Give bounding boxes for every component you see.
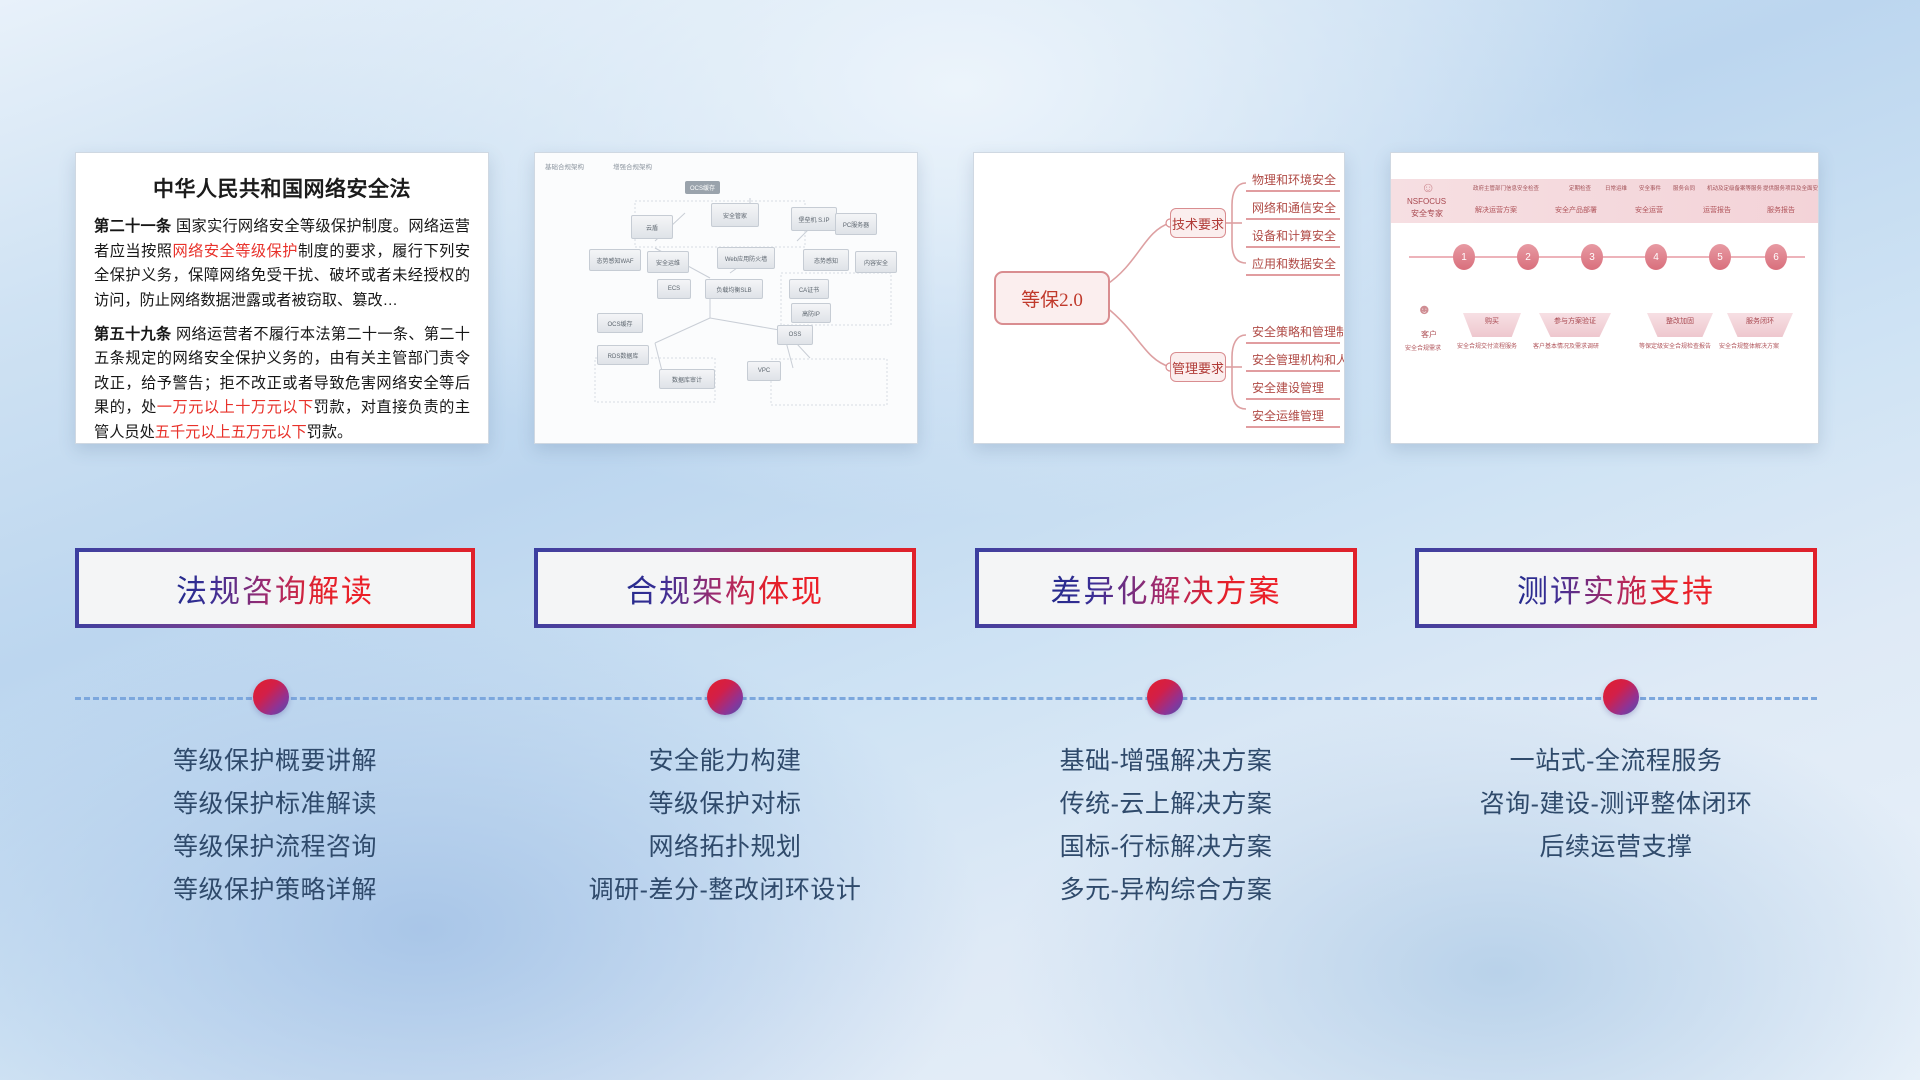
article-59-highlight-1: 一万元以上十万元以下: [157, 399, 314, 416]
arch-label-security-host: OCS缓存: [685, 181, 720, 194]
timeline-dot-2[interactable]: [707, 679, 743, 715]
detail-column-4: 一站式-全流程服务 咨询-建设-测评整体闭环 后续运营支撑: [1415, 740, 1817, 869]
mindmap-branch-technical: 技术要求: [1170, 208, 1226, 238]
card-compliance-architecture[interactable]: 基础合规架构 增强合规架构: [534, 152, 918, 444]
architecture-diagram: 基础合规架构 增强合规架构: [535, 153, 917, 443]
step-6: 6: [1765, 244, 1787, 270]
detail-item: 网络拓扑规划: [534, 826, 916, 869]
article-21-label: 第二十一条: [94, 218, 171, 235]
law-body: 中华人民共和国网络安全法 第二十一条 国家实行网络安全等级保护制度。网络运营者应…: [76, 153, 488, 443]
headline-text-2: 合规架构体现: [626, 566, 824, 611]
arch-node-situational-awareness-waf: 态势感知WAF: [589, 249, 641, 271]
bottom-item-0-sub: 安全合规交付流程服务: [1457, 341, 1517, 350]
detail-item: 等级保护流程咨询: [75, 826, 475, 869]
step-1: 1: [1453, 244, 1475, 270]
bottom-item-3-sub: 安全合规整体解决方案: [1719, 341, 1779, 350]
arch-node-pc-server: PC服务器: [835, 213, 877, 235]
card-service-flow[interactable]: ☺ NSFOCUS 安全专家 政府主管部门信息安全检查 定期检查 日常运维 安全…: [1390, 152, 1819, 444]
arch-node-ocs: OCS缓存: [597, 313, 643, 333]
detail-item: 等级保护概要讲解: [75, 740, 475, 783]
arch-node-oss: OSS: [777, 325, 813, 345]
step-5: 5: [1709, 244, 1731, 270]
headline-text-4: 测评实施支持: [1517, 566, 1715, 611]
headline-box-3[interactable]: 差异化解决方案: [975, 548, 1357, 628]
bottom-left-sub: 安全合规需求: [1405, 343, 1441, 352]
mindmap-branch-management: 管理要求: [1170, 352, 1226, 382]
detail-item: 调研-差分-整改闭环设计: [534, 869, 916, 912]
detail-item: 等级保护对标: [534, 783, 916, 826]
headline-text-3: 差异化解决方案: [1051, 566, 1282, 611]
bottom-item-1-title: 参与方案验证: [1539, 313, 1611, 337]
headline-text-1: 法规咨询解读: [176, 566, 374, 611]
arch-node-bastion: 堡垒机 S.IP: [791, 207, 837, 231]
detail-item: 等级保护策略详解: [75, 869, 475, 912]
detail-column-1: 等级保护概要讲解 等级保护标准解读 等级保护流程咨询 等级保护策略详解: [75, 740, 475, 912]
mindmap-leaf-policy-system: 安全策略和管理制度: [1252, 323, 1345, 340]
detail-item: 后续运营支撑: [1415, 826, 1817, 869]
headline-box-1[interactable]: 法规咨询解读: [75, 548, 475, 628]
article-59-highlight-2: 五千元以上五万元以下: [155, 424, 307, 441]
service-flow-rail: [1391, 153, 1818, 443]
bottom-item-2-title: 整改加固: [1647, 313, 1713, 337]
article-59-end: 罚款。: [307, 424, 353, 441]
article-21-highlight: 网络安全等级保护: [172, 243, 298, 260]
thumbnail-card-row: 中华人民共和国网络安全法 第二十一条 国家实行网络安全等级保护制度。网络运营者应…: [0, 0, 1920, 470]
arch-node-security-butler: 安全管家: [711, 203, 759, 227]
bottom-item-1-sub: 客户基本情况及需求调研: [1533, 341, 1599, 350]
arch-node-vpc: VPC: [747, 361, 781, 381]
mindmap-leaf-network-communication: 网络和通信安全: [1252, 199, 1336, 216]
detail-item: 多元-异构综合方案: [975, 869, 1357, 912]
arch-node-situational-awareness: 态势感知: [803, 249, 849, 271]
mindmap-leaf-physical-environment: 物理和环境安全: [1252, 171, 1336, 188]
bottom-item-0-title: 购买: [1463, 313, 1521, 337]
step-3: 3: [1581, 244, 1603, 270]
step-2: 2: [1517, 244, 1539, 270]
arch-node-slb: 负载均衡SLB: [705, 279, 763, 299]
arch-node-ecs: ECS: [657, 279, 691, 299]
detail-item: 传统-云上解决方案: [975, 783, 1357, 826]
mindmap: 等保2.0 技术要求 物理和环境安全 网络和通信安全 设备和计算安全 应用和数据…: [974, 153, 1344, 443]
detail-item: 等级保护标准解读: [75, 783, 475, 826]
headline-box-4[interactable]: 测评实施支持: [1415, 548, 1817, 628]
mindmap-leaf-device-computing: 设备和计算安全: [1252, 227, 1336, 244]
headline-box-2[interactable]: 合规架构体现: [534, 548, 916, 628]
detail-item: 咨询-建设-测评整体闭环: [1415, 783, 1817, 826]
bottom-item-2-sub: 等保定级安全合规检查报告: [1639, 341, 1711, 350]
bottom-item-3-title: 服务闭环: [1727, 313, 1793, 337]
detail-item: 安全能力构建: [534, 740, 916, 783]
card-mindmap-dengbao[interactable]: 等保2.0 技术要求 物理和环境安全 网络和通信安全 设备和计算安全 应用和数据…: [973, 152, 1345, 444]
law-title: 中华人民共和国网络安全法: [94, 173, 470, 203]
mindmap-leaf-application-data: 应用和数据安全: [1252, 255, 1336, 272]
law-article-21: 第二十一条 国家实行网络安全等级保护制度。网络运营者应当按照网络安全等级保护制度…: [94, 215, 470, 314]
arch-node-anti-ddos-ip: 高防IP: [791, 303, 831, 323]
timeline-dot-1[interactable]: [253, 679, 289, 715]
arch-node-security-ops: 安全运维: [647, 251, 689, 273]
card-cybersecurity-law[interactable]: 中华人民共和国网络安全法 第二十一条 国家实行网络安全等级保护制度。网络运营者应…: [75, 152, 489, 444]
mindmap-root: 等保2.0: [994, 271, 1110, 325]
arch-node-content-security: 内容安全: [855, 251, 897, 273]
timeline-dashed-line: [75, 697, 1817, 700]
timeline-dot-4[interactable]: [1603, 679, 1639, 715]
detail-item: 国标-行标解决方案: [975, 826, 1357, 869]
mindmap-leaf-construction-mgmt: 安全建设管理: [1252, 379, 1324, 396]
slide-canvas: 中华人民共和国网络安全法 第二十一条 国家实行网络安全等级保护制度。网络运营者应…: [0, 0, 1920, 1080]
client-avatar-icon: ☻: [1417, 301, 1432, 317]
timeline-dot-3[interactable]: [1147, 679, 1183, 715]
detail-column-2: 安全能力构建 等级保护对标 网络拓扑规划 调研-差分-整改闭环设计: [534, 740, 916, 912]
arch-node-rds: RDS数据库: [597, 345, 649, 365]
mindmap-leaf-operations-mgmt: 安全运维管理: [1252, 407, 1324, 424]
arch-node-ca-cert: CA证书: [789, 279, 829, 299]
law-article-59: 第五十九条 网络运营者不履行本法第二十一条、第二十五条规定的网络安全保护义务的，…: [94, 323, 470, 445]
arch-node-waf: Web应用防火墙: [717, 247, 775, 269]
arch-node-db-audit: 数据库审计: [659, 369, 715, 389]
bottom-left-title: 客户: [1421, 329, 1437, 340]
step-4: 4: [1645, 244, 1667, 270]
service-flow-diagram: ☺ NSFOCUS 安全专家 政府主管部门信息安全检查 定期检查 日常运维 安全…: [1391, 153, 1818, 443]
arch-node-cloud-shield: 云盾: [631, 215, 673, 239]
article-59-label: 第五十九条: [94, 326, 171, 343]
mindmap-leaf-org-personnel: 安全管理机构和人员: [1252, 351, 1345, 368]
detail-item: 一站式-全流程服务: [1415, 740, 1817, 783]
detail-column-3: 基础-增强解决方案 传统-云上解决方案 国标-行标解决方案 多元-异构综合方案: [975, 740, 1357, 912]
detail-item: 基础-增强解决方案: [975, 740, 1357, 783]
